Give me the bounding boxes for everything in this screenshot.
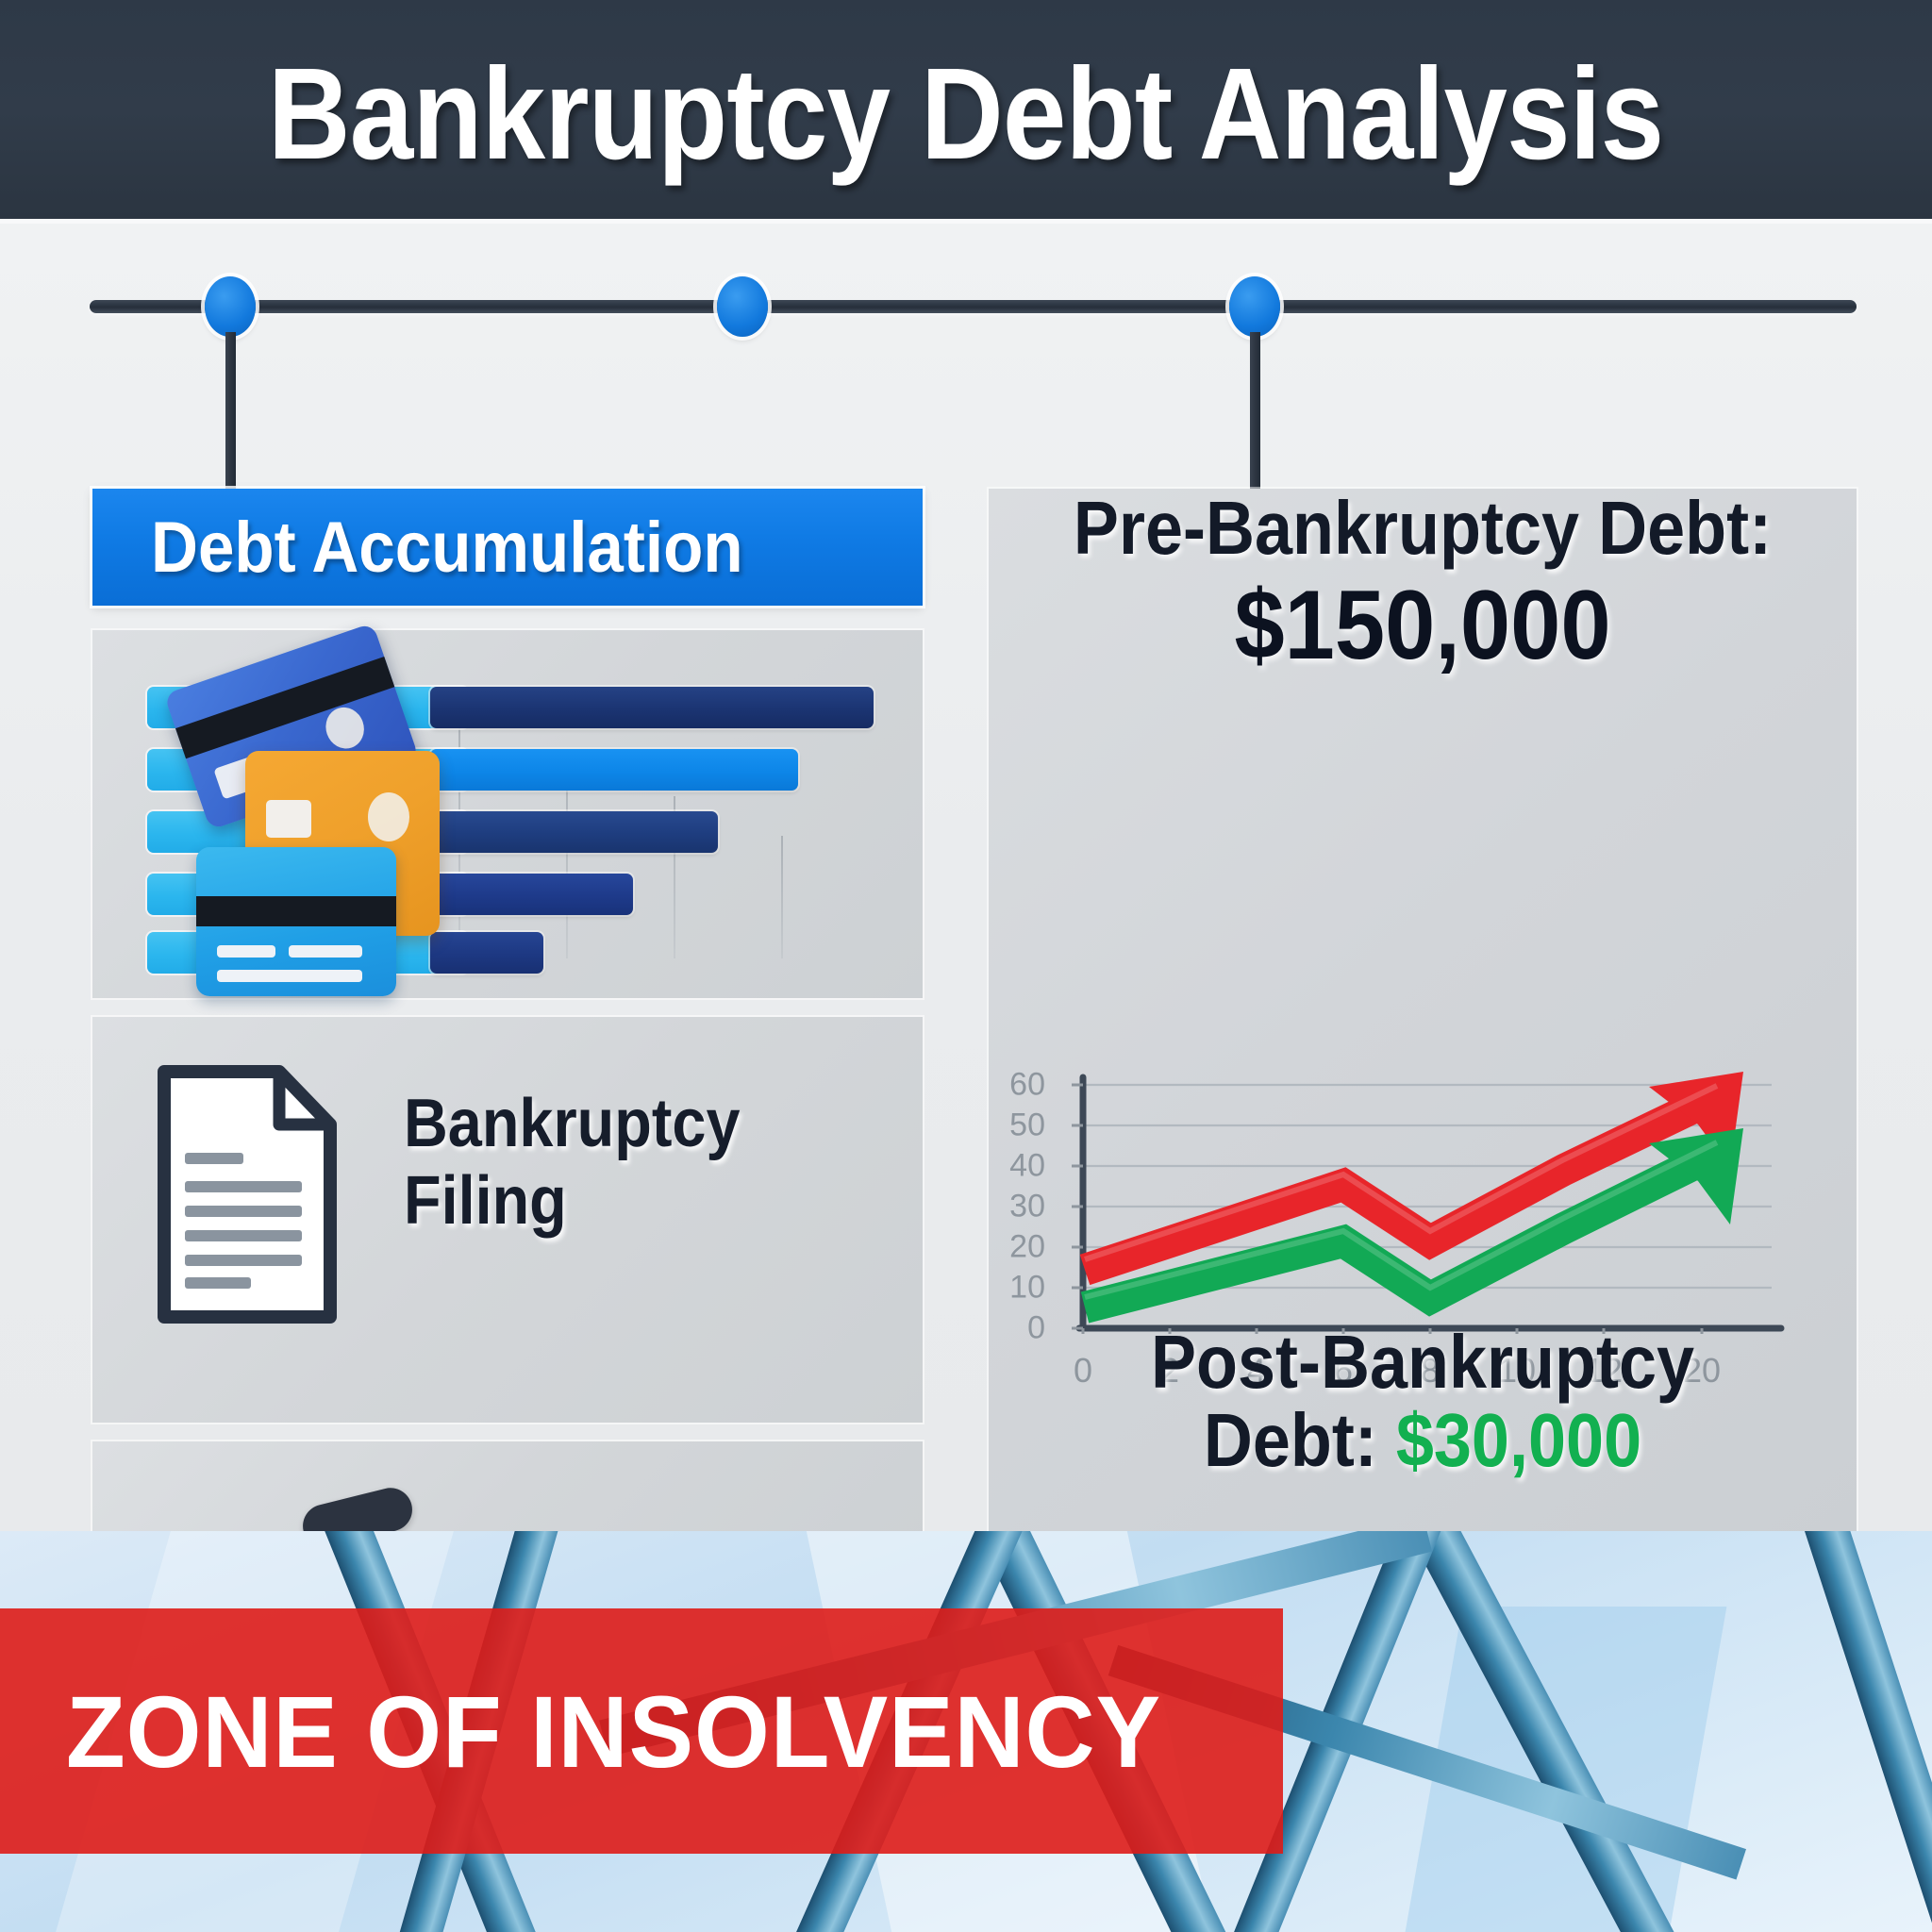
- header-divider: [0, 219, 1932, 224]
- header-bar: Bankruptcy Debt Analysis: [0, 0, 1932, 219]
- post-label-line1: Post-Bankruptcy: [1032, 1323, 1813, 1401]
- pre-bankruptcy-value: $150,000: [1024, 570, 1822, 682]
- post-label-line2: Debt: $30,000: [1032, 1401, 1813, 1479]
- timeline-stem-3: [1250, 332, 1260, 491]
- timeline-node-bankruptcy-filing[interactable]: [717, 276, 768, 337]
- post-label-prefix: Debt:: [1204, 1398, 1396, 1482]
- debt-accumulation-card: [92, 630, 923, 998]
- page-title: Bankruptcy Debt Analysis: [268, 40, 1663, 179]
- debt-accumulation-banner[interactable]: Debt Accumulation: [92, 489, 923, 606]
- post-bankruptcy-value: $30,000: [1396, 1398, 1641, 1482]
- bar-value: [430, 932, 543, 974]
- banner-label: Debt Accumulation: [151, 507, 743, 589]
- bankruptcy-filing-label: Bankruptcy Filing: [404, 1085, 740, 1240]
- filing-label-line2: Filing: [404, 1162, 740, 1240]
- zone-of-insolvency-banner: ZONE OF INSOLVENCY: [0, 1608, 1283, 1854]
- document-filing-icon: [155, 1062, 340, 1326]
- timeline-track: [90, 300, 1857, 313]
- timeline-stem-1: [225, 332, 236, 491]
- bar-gridline: [781, 836, 783, 958]
- timeline-node-debt-accumulation[interactable]: [205, 276, 256, 337]
- credit-card-icon: [196, 847, 396, 996]
- filing-label-line1: Bankruptcy: [404, 1085, 740, 1162]
- bar-value: [430, 749, 798, 791]
- infographic-canvas: Bankruptcy Debt Analysis Debt Accumulati…: [0, 0, 1932, 1932]
- bar-value: [430, 811, 718, 853]
- bar-value: [430, 687, 874, 728]
- debt-trend-chart: 0 10 20 30 40 50 60: [989, 1051, 1857, 1334]
- post-bankruptcy-label: Post-Bankruptcy Debt: $30,000: [1032, 1323, 1813, 1479]
- pre-bankruptcy-label: Pre-Bankruptcy Debt:: [1032, 489, 1813, 572]
- timeline-node-debt-comparison[interactable]: [1229, 276, 1280, 337]
- bankruptcy-filing-card: Bankruptcy Filing: [92, 1017, 923, 1423]
- horizontal-bar-chart: [147, 675, 874, 958]
- debt-comparison-panel: Pre-Bankruptcy Debt: $150,000 0 10 20 30…: [989, 489, 1857, 1531]
- bar-value: [430, 874, 633, 915]
- zone-of-insolvency-label: ZONE OF INSOLVENCY: [66, 1673, 1161, 1790]
